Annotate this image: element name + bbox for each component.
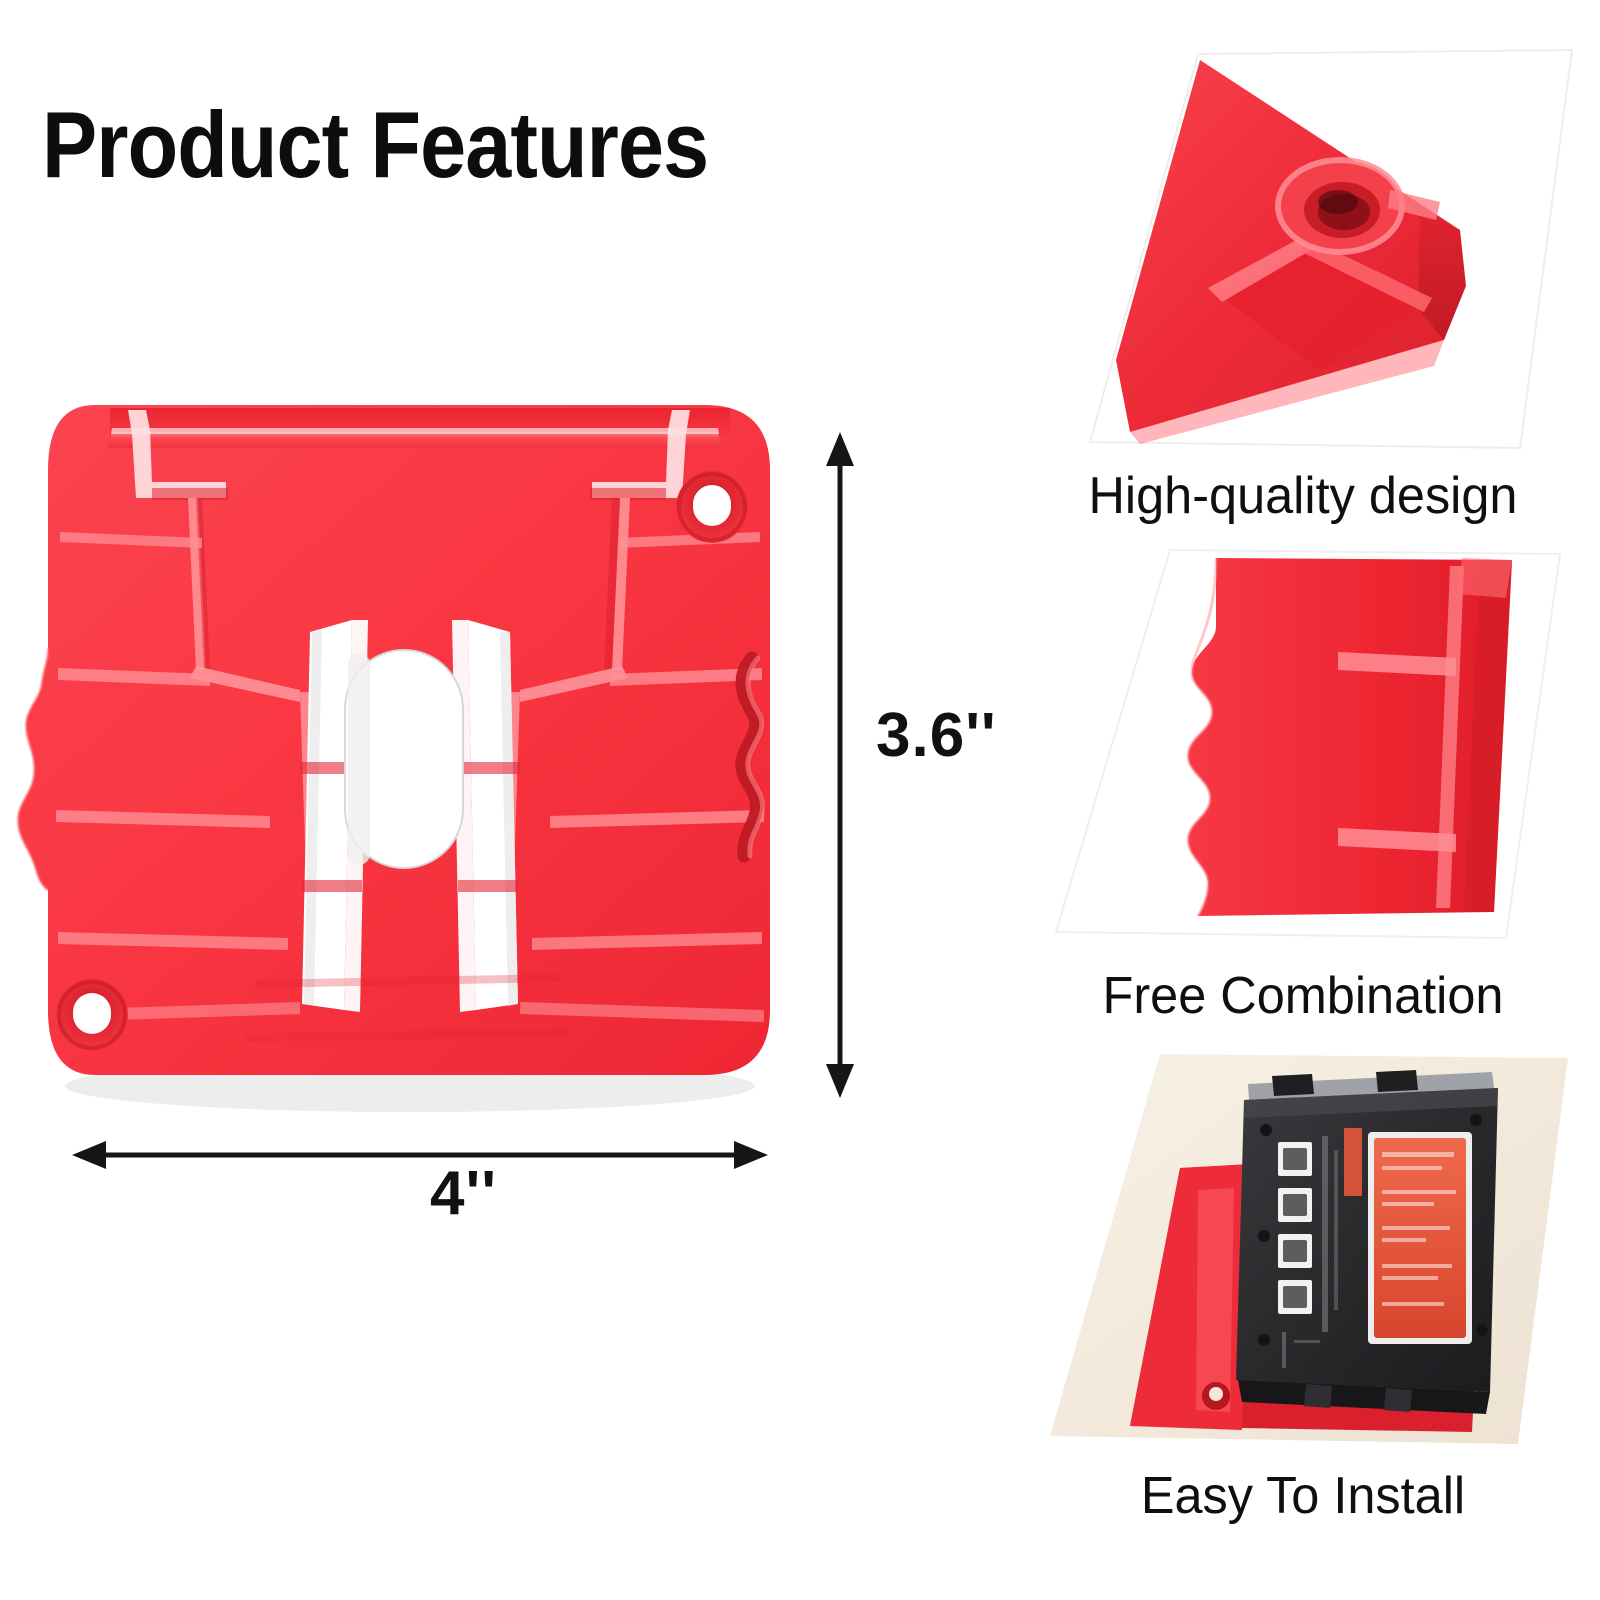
battery-mounted-on-bracket-photo (1020, 1040, 1586, 1460)
screw-boss-ring (1278, 160, 1402, 252)
feature-card-free-combination: Free Combination (1020, 540, 1586, 1026)
battery-mount-bracket-illustration (0, 370, 840, 1160)
feature-card-easy-to-install: Easy To Install (1020, 1040, 1586, 1526)
product-features-infographic: Product Features (0, 0, 1600, 1600)
top-lip-edge (108, 432, 722, 448)
screw-hole-bottom-left (56, 979, 128, 1051)
battery-pack (1236, 1070, 1498, 1414)
feature-card-high-quality-design: High-quality design (1020, 40, 1586, 526)
dimension-line-horizontal (70, 1120, 770, 1190)
feature-caption-1: Free Combination (1028, 966, 1577, 1026)
screw-hole-top-right (676, 471, 748, 543)
dimension-line-vertical (800, 430, 880, 1100)
main-product-photo (0, 370, 840, 1160)
bracket-body (0, 370, 840, 1075)
feature-caption-0: High-quality design (1028, 466, 1577, 526)
corner-closeup-screw-boss-photo (1020, 40, 1586, 460)
central-oval-slot (345, 650, 463, 868)
feature-caption-2: Easy To Install (1028, 1466, 1577, 1526)
top-lip-highlight (111, 428, 719, 434)
page-title: Product Features (42, 98, 708, 192)
bracket-side-with-scallops (1188, 558, 1512, 916)
dimension-label-height: 3.6'' (876, 700, 997, 771)
dimension-label-width: 4'' (430, 1158, 497, 1229)
scalloped-interlock-edge-photo (1020, 540, 1586, 960)
